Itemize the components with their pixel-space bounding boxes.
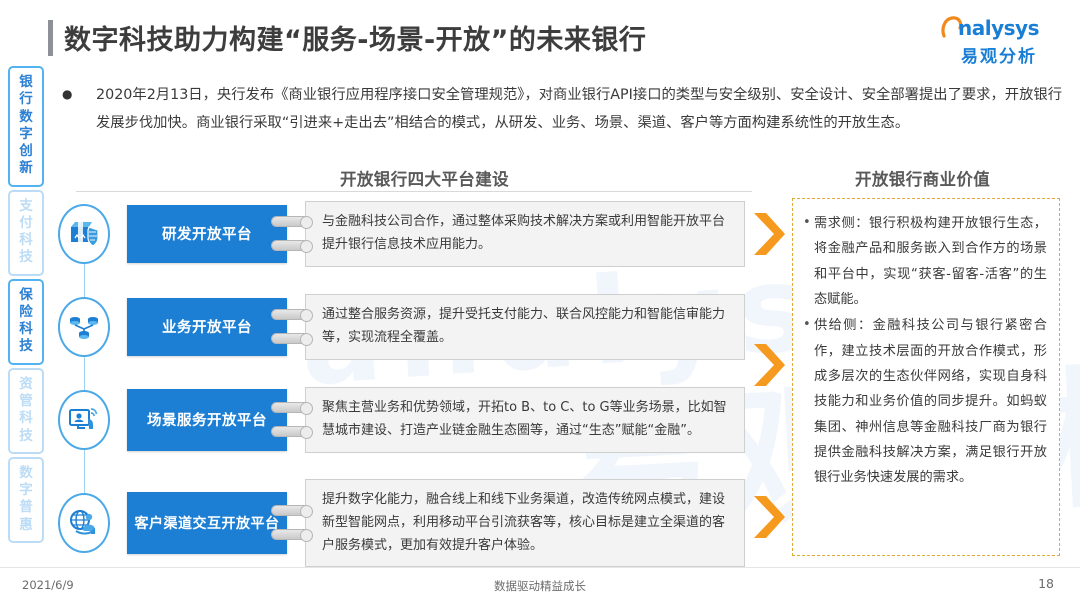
tab-char: 科 (19, 321, 33, 338)
link-icon (271, 309, 311, 320)
right-column-heading: 开放银行商业价值 (855, 166, 990, 190)
left-column-heading: 开放银行四大平台建设 (340, 166, 509, 190)
intro-paragraph-text: 2020年2月13日，央行发布《商业银行应用程序接口安全管理规范》，对商业银行A… (96, 82, 1062, 138)
tab-char: 技 (19, 338, 33, 355)
left-column-divider (76, 191, 752, 192)
tab-char: 科 (19, 232, 33, 249)
link-icon (271, 529, 311, 540)
platform-icon-wrap (56, 296, 112, 358)
tab-char: 新 (19, 160, 33, 177)
link-icon (271, 402, 311, 413)
title-bar: 数字科技助力构建“服务-场景-开放”的未来银行 (48, 18, 646, 57)
tab-char: 银 (19, 74, 33, 91)
sidebar-vertical-tabs: 银 行 数 字 创 新 支 付 科 技 保 险 科 技 资 管 科 技 数 字 (8, 66, 44, 546)
logo-chinese-name: 易观分析 (940, 42, 1058, 67)
platform-label[interactable]: 场景服务开放平台 (127, 389, 287, 451)
tab-char: 付 (19, 215, 33, 232)
intro-paragraph-block: ● 2020年2月13日，央行发布《商业银行应用程序接口安全管理规范》，对商业银… (62, 82, 1062, 138)
footer-page-number: 18 (1038, 576, 1054, 591)
tab-char: 数 (19, 465, 33, 482)
link-icon (271, 426, 311, 437)
chevron-right-icon (752, 342, 786, 388)
tab-char: 保 (19, 287, 33, 304)
tab-char: 支 (19, 198, 33, 215)
value-bullet: • (803, 211, 814, 312)
platform-connector (271, 390, 311, 450)
analysys-logo: nalysys 易观分析 (940, 14, 1058, 67)
platform-description: 与金融科技公司合作，通过整体采购技术解决方案或利用智能开放平台提升银行信息技术应… (305, 201, 745, 267)
tab-char: 惠 (19, 517, 33, 534)
platform-icon-wrap (56, 203, 112, 265)
sidebar-item-bank-digital-innovation[interactable]: 银 行 数 字 创 新 (8, 66, 44, 187)
platform-label[interactable]: 客户渠道交互开放平台 (127, 492, 287, 554)
platform-row: 客户渠道交互开放平台 提升数字化能力，融合线上和线下业务渠道，改造传统网点模式，… (56, 479, 745, 567)
link-icon (271, 216, 311, 227)
tab-char: 行 (19, 91, 33, 108)
value-list-item: • 供给侧：金融科技公司与银行紧密合作，建立技术层面的开放合作模式，形成多层次的… (803, 313, 1047, 490)
svg-text:nalysys: nalysys (958, 16, 1039, 40)
sidebar-item-payment-tech[interactable]: 支 付 科 技 (8, 190, 44, 276)
value-text: 供给侧：金融科技公司与银行紧密合作，建立技术层面的开放合作模式，形成多层次的生态… (814, 313, 1047, 490)
tab-char: 数 (19, 109, 33, 126)
sidebar-item-asset-mgmt-tech[interactable]: 资 管 科 技 (8, 368, 44, 454)
chevron-right-icon (752, 494, 786, 540)
platform-label[interactable]: 业务开放平台 (127, 298, 287, 356)
logo-swirl-icon: nalysys (940, 14, 1058, 40)
sidebar-item-digital-inclusive-finance[interactable]: 数 字 普 惠 (8, 457, 44, 543)
platform-description: 聚焦主营业务和优势领域，开拓to B、to C、to G等业务场景，比如智慧城市… (305, 387, 745, 453)
platform-row: 研发开放平台 与金融科技公司合作，通过整体采购技术解决方案或利用智能开放平台提升… (56, 201, 745, 267)
screen-user-signal-icon (58, 390, 110, 450)
tab-char: 管 (19, 393, 33, 410)
tab-char: 创 (19, 143, 33, 160)
link-icon (271, 505, 311, 516)
platform-description: 提升数字化能力，融合线上和线下业务渠道，改造传统网点模式，建设新型智能网点，利用… (305, 479, 745, 567)
tab-char: 普 (19, 499, 33, 516)
timeline-spine (84, 245, 85, 505)
database-network-icon (58, 297, 110, 357)
package-shield-icon (58, 204, 110, 264)
link-icon (271, 333, 311, 344)
platform-row: 场景服务开放平台 聚焦主营业务和优势领域，开拓to B、to C、to G等业务… (56, 387, 745, 453)
platform-description: 通过整合服务资源，提升受托支付能力、联合风控能力和智能信审能力等，实现流程全覆盖… (305, 294, 745, 360)
platform-connector (271, 297, 311, 357)
tab-char: 险 (19, 304, 33, 321)
platform-connector (271, 204, 311, 264)
platform-label[interactable]: 研发开放平台 (127, 205, 287, 263)
tab-char: 技 (19, 428, 33, 445)
footer-slogan: 数据驱动精益成长 (0, 578, 1080, 594)
slide-root: analysys 易观分析 数字科技助力构建“服务-场景-开放”的未来银行 na… (0, 0, 1080, 608)
platform-icon-wrap (56, 492, 112, 554)
chevron-right-icon (752, 211, 786, 257)
title-accent-rule (48, 20, 53, 56)
tab-char: 字 (19, 126, 33, 143)
platform-row: 业务开放平台 通过整合服务资源，提升受托支付能力、联合风控能力和智能信审能力等，… (56, 294, 745, 360)
business-value-panel: • 需求侧：银行积极构建开放银行生态，将金融产品和服务嵌入到合作方的场景和平台中… (792, 198, 1060, 556)
platform-icon-wrap (56, 389, 112, 451)
tab-char: 资 (19, 376, 33, 393)
tab-char: 技 (19, 249, 33, 266)
footer-divider (0, 567, 1080, 568)
tab-char: 科 (19, 410, 33, 427)
logo-wordmark: nalysys (940, 14, 1058, 40)
sidebar-item-insurance-tech[interactable]: 保 险 科 技 (8, 279, 44, 365)
bullet-marker: ● (62, 82, 96, 138)
value-bullet: • (803, 313, 814, 490)
page-title: 数字科技助力构建“服务-场景-开放”的未来银行 (64, 18, 646, 57)
value-text: 需求侧：银行积极构建开放银行生态，将金融产品和服务嵌入到合作方的场景和平台中，实… (814, 211, 1047, 312)
platform-connector (271, 493, 311, 553)
globe-user-icon (58, 493, 110, 553)
value-list-item: • 需求侧：银行积极构建开放银行生态，将金融产品和服务嵌入到合作方的场景和平台中… (803, 211, 1047, 312)
link-icon (271, 240, 311, 251)
tab-char: 字 (19, 482, 33, 499)
